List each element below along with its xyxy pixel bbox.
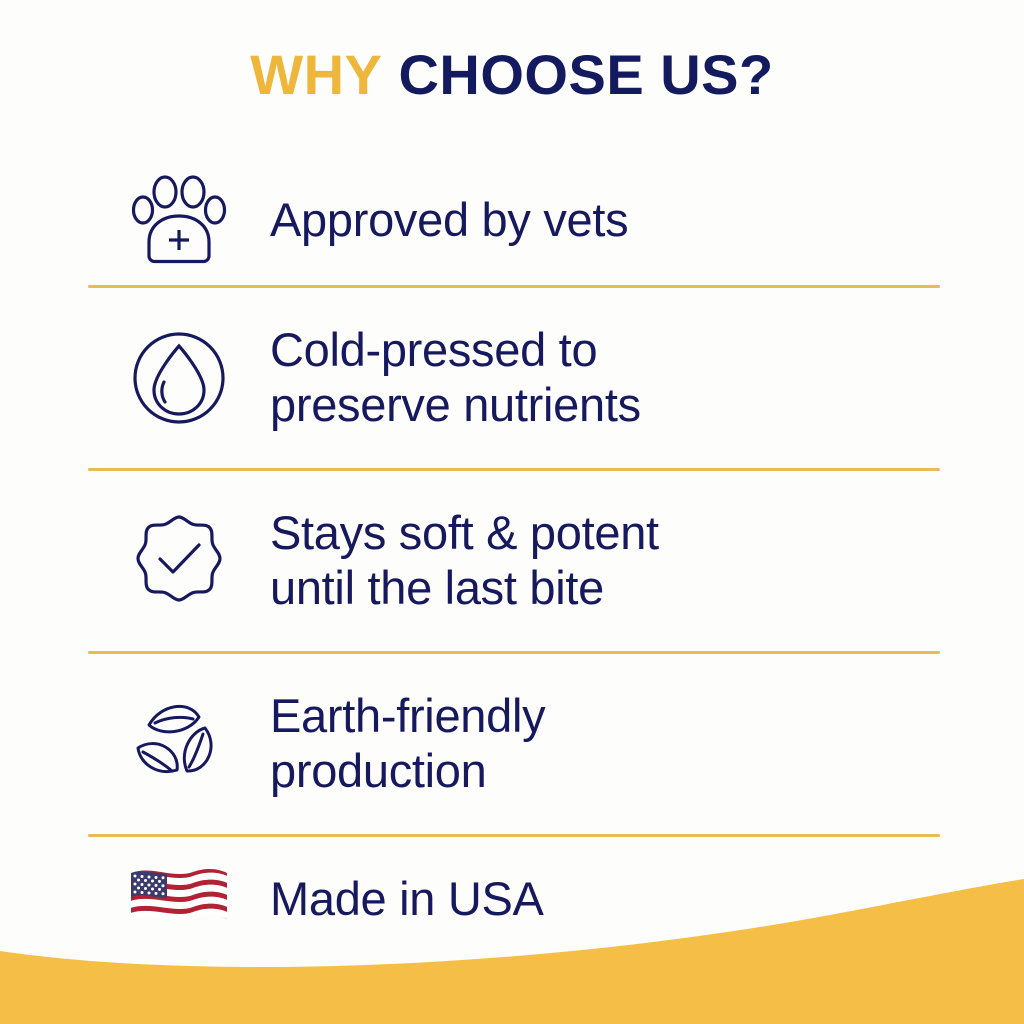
feature-text-line: production (270, 744, 545, 799)
page-title: WHY CHOOSE US? (0, 44, 1024, 106)
feature-text: Stays soft & potent until the last bite (270, 506, 659, 615)
feature-text-line: Earth-friendly (270, 689, 545, 744)
infographic-canvas: WHY CHOOSE US? Approved by vets (0, 0, 1024, 1024)
feature-text: Approved by vets (270, 193, 628, 248)
feature-item-cold-pressed: Cold-pressed to preserve nutrients (88, 288, 940, 468)
feature-text-line: Cold-pressed to (270, 323, 641, 378)
feature-text-line: preserve nutrients (270, 378, 641, 433)
page-title-accent-word: WHY (250, 43, 382, 106)
recycle-leaves-icon (88, 692, 270, 796)
feature-list: Approved by vets Cold-pressed to preserv… (88, 155, 940, 962)
feature-item-approved-by-vets: Approved by vets (88, 155, 940, 285)
feature-text-line: Approved by vets (270, 193, 628, 248)
feature-text: Earth-friendly production (270, 689, 545, 798)
badge-check-icon (88, 509, 270, 613)
bottom-wave-decoration (0, 879, 1024, 1024)
feature-text-line: until the last bite (270, 561, 659, 616)
feature-text: Cold-pressed to preserve nutrients (270, 323, 641, 432)
feature-text-line: Stays soft & potent (270, 506, 659, 561)
paw-medical-icon (88, 168, 270, 272)
page-title-main-text: CHOOSE US? (398, 43, 773, 106)
feature-item-earth-friendly: Earth-friendly production (88, 654, 940, 834)
water-droplet-circle-icon (88, 326, 270, 430)
feature-item-stays-soft: Stays soft & potent until the last bite (88, 471, 940, 651)
